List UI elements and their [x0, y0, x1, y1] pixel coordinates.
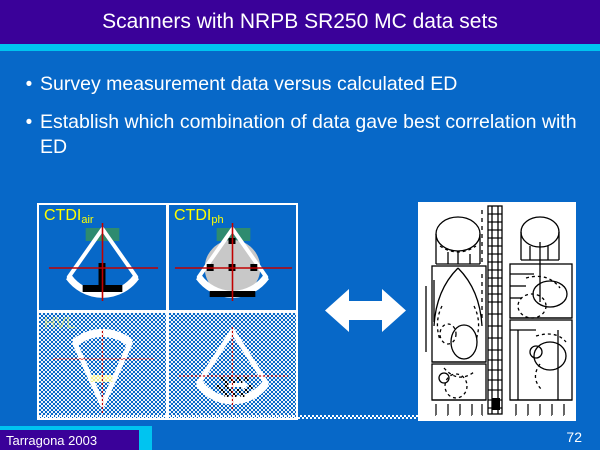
- panel-label-ctdi-phantom: CTDIph: [174, 207, 224, 226]
- panel-hvl: HVL: [39, 313, 166, 418]
- ct-measurement-panel-grid: CTDIair CTDIph: [37, 203, 298, 420]
- panel-scatter: [169, 313, 296, 418]
- footer-halftone-rule: [38, 415, 576, 419]
- panel-ctdi-air: CTDIair: [39, 205, 166, 310]
- list-item: • Survey measurement data versus calcula…: [18, 72, 584, 97]
- page-title: Scanners with NRPB SR250 MC data sets: [0, 10, 600, 34]
- footer-label: Tarragona 2003: [6, 433, 97, 449]
- panel-label-subscript: ph: [211, 214, 223, 226]
- bullet-list: • Survey measurement data versus calcula…: [18, 72, 584, 173]
- slide: Scanners with NRPB SR250 MC data sets • …: [0, 0, 600, 450]
- scatter-diagram: [169, 313, 296, 418]
- title-accent-rule-cyan: [0, 44, 600, 51]
- list-item: • Establish which combination of data ga…: [18, 110, 584, 160]
- anthropomorphic-phantom-technical-drawing: [418, 202, 576, 421]
- panel-label-main: CTDI: [44, 207, 81, 224]
- bullet-text: Survey measurement data versus calculate…: [40, 72, 584, 97]
- panel-label-ctdi-air: CTDIair: [44, 207, 94, 226]
- panel-label-subscript: air: [81, 214, 93, 226]
- phantom-drawing-svg: [418, 202, 576, 421]
- bullet-text: Establish which combination of data gave…: [40, 110, 584, 160]
- panel-label-main: HVL: [44, 315, 75, 332]
- bullet-marker-icon: •: [18, 72, 40, 97]
- panel-label-hvl: HVL: [44, 315, 75, 333]
- page-number: 72: [566, 428, 582, 446]
- panel-label-main: CTDI: [174, 207, 211, 224]
- title-accent-rule-blue: [0, 51, 600, 56]
- bullet-marker-icon: •: [18, 110, 40, 135]
- panel-ctdi-phantom: CTDIph: [169, 205, 296, 310]
- double-headed-arrow-icon: [323, 283, 408, 338]
